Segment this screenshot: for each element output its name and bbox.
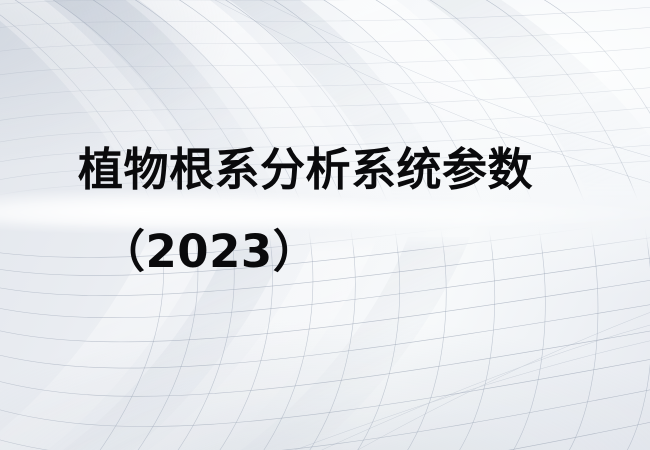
background-vignette bbox=[0, 0, 650, 450]
presentation-slide: 植物根系分析系统参数 （2023） bbox=[0, 0, 650, 450]
